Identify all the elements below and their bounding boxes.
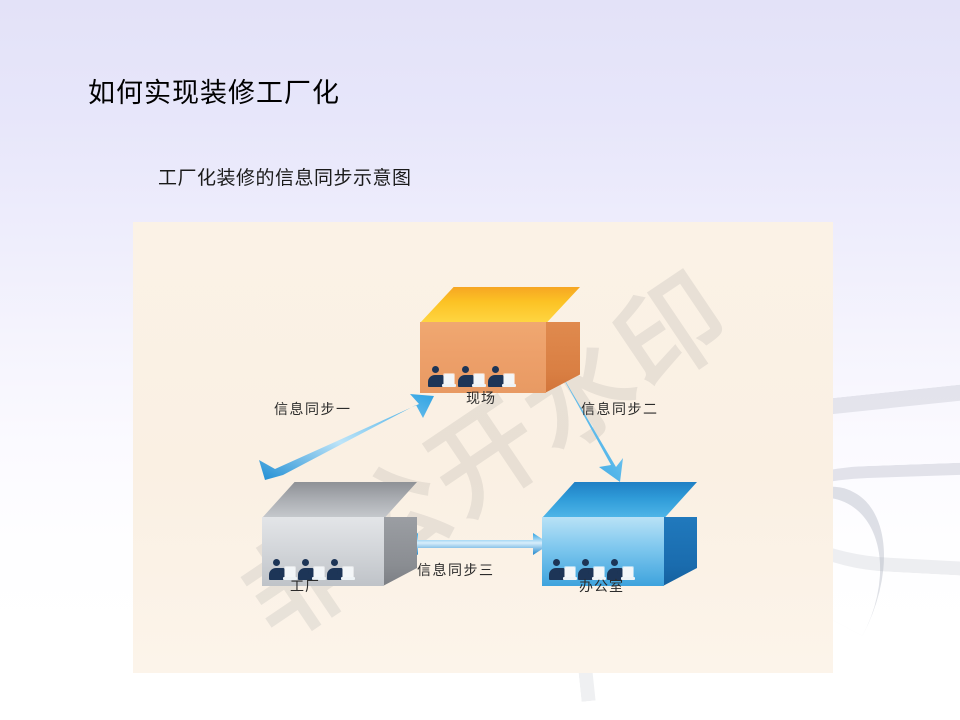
box-front-face [262, 517, 384, 586]
box-front-face [420, 322, 546, 393]
diagram-panel: 非公开水印 [133, 222, 833, 673]
slide-canvas: 如何实现装修工厂化 工厂化装修的信息同步示意图 非公开水印 [0, 0, 960, 720]
box-side-face [663, 517, 697, 586]
edge-label-sync1: 信息同步一 [274, 399, 352, 419]
person-icon [458, 365, 484, 387]
person-icon [549, 558, 575, 580]
node-label-office: 办公室 [579, 576, 624, 596]
node-label-factory: 工厂 [290, 576, 320, 596]
box-side-face [383, 517, 417, 586]
box-top-face [542, 482, 697, 518]
box-top-face [262, 482, 417, 518]
page-title: 如何实现装修工厂化 [88, 76, 340, 110]
people-group [426, 363, 516, 387]
node-label-site: 现场 [466, 388, 496, 408]
diagram-node-factory[interactable] [262, 482, 417, 586]
person-icon [428, 365, 454, 387]
box-side-face [545, 322, 580, 393]
diagram-subtitle: 工厂化装修的信息同步示意图 [158, 167, 412, 191]
edge-label-sync3: 信息同步三 [417, 560, 495, 580]
diagram-node-office[interactable] [542, 482, 697, 586]
box-top-face [420, 287, 580, 323]
person-icon [488, 365, 514, 387]
arrow-sync3 [401, 533, 550, 555]
edge-label-sync2: 信息同步二 [581, 399, 659, 419]
person-icon [327, 558, 353, 580]
diagram-node-site[interactable] [420, 287, 580, 393]
